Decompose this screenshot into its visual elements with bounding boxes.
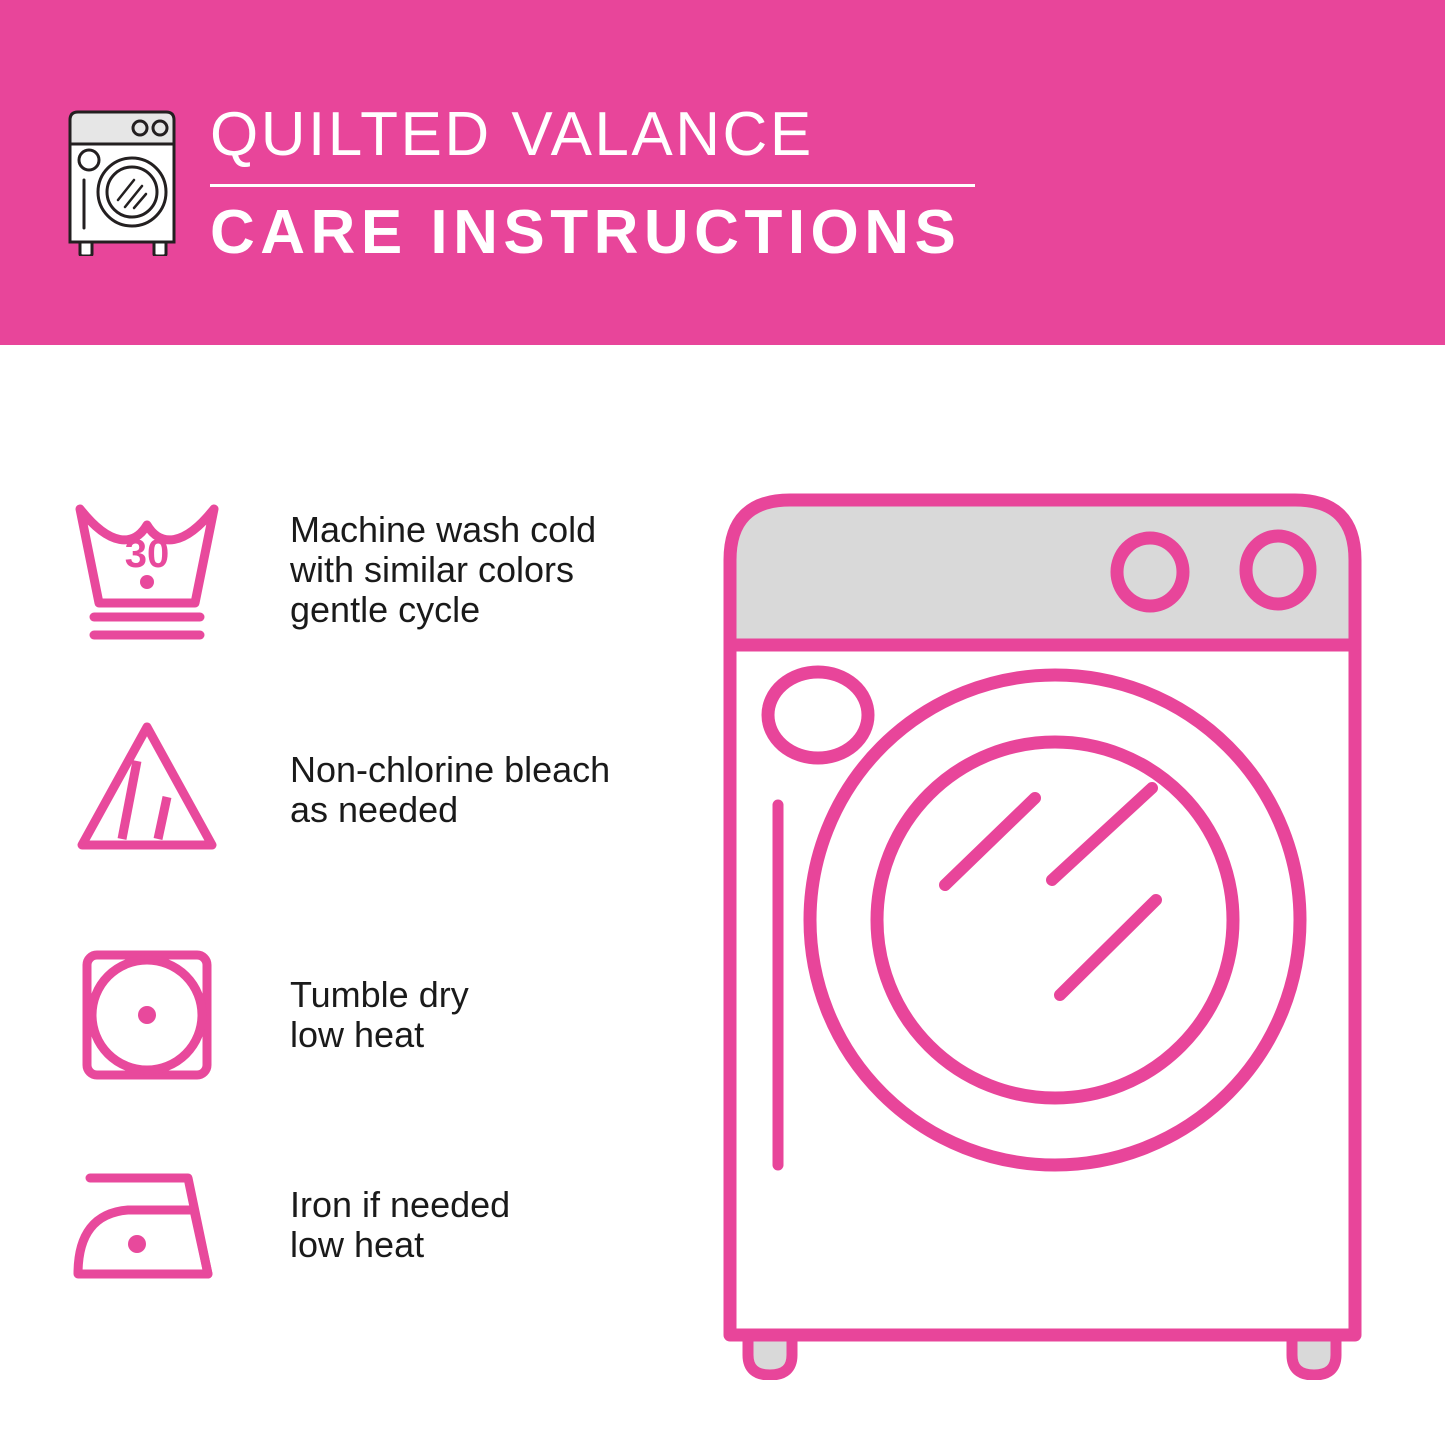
care-item-wash-text: Machine wash cold with similar colors ge…: [290, 510, 596, 630]
care-item-iron-text: Iron if needed low heat: [290, 1185, 510, 1265]
page-subtitle: CARE INSTRUCTIONS: [210, 197, 990, 269]
care-text-line: Non-chlorine bleach: [290, 750, 610, 790]
page-title: QUILTED VALANCE: [210, 100, 990, 170]
care-item-tumble-dry-text: Tumble dry low heat: [290, 975, 469, 1055]
care-text-line: Iron if needed: [290, 1185, 510, 1225]
tumble-dry-icon: [62, 930, 232, 1100]
knob-left: [1117, 538, 1183, 606]
bleach-triangle-icon: [62, 705, 232, 875]
care-item-bleach: Non-chlorine bleach as needed: [0, 700, 640, 880]
care-text-line: Tumble dry: [290, 975, 469, 1015]
knob-right: [1246, 536, 1310, 604]
care-instructions-page: QUILTED VALANCE CARE INSTRUCTIONS 30 Mac…: [0, 0, 1445, 1445]
care-text-line: as needed: [290, 790, 610, 830]
care-text-line: with similar colors: [290, 550, 596, 590]
care-text-line: gentle cycle: [290, 590, 596, 630]
detergent-dispenser: [768, 672, 868, 758]
care-text-line: Machine wash cold: [290, 510, 596, 550]
care-item-tumble-dry: Tumble dry low heat: [0, 925, 640, 1105]
iron-icon: [62, 1140, 232, 1310]
header-band: QUILTED VALANCE CARE INSTRUCTIONS: [0, 0, 1445, 345]
care-text-line: low heat: [290, 1015, 469, 1055]
wash-tub-30-icon: 30: [62, 485, 232, 655]
washing-machine-illustration: [700, 460, 1400, 1380]
header-text-block: QUILTED VALANCE CARE INSTRUCTIONS: [210, 100, 990, 269]
care-item-bleach-text: Non-chlorine bleach as needed: [290, 750, 610, 830]
wash-temperature-label: 30: [125, 532, 170, 576]
washing-machine-icon: [62, 104, 186, 256]
header-divider: [210, 184, 975, 187]
care-text-line: low heat: [290, 1225, 510, 1265]
care-item-wash: 30 Machine wash cold with similar colors…: [0, 480, 640, 660]
care-item-iron: Iron if needed low heat: [0, 1135, 640, 1315]
